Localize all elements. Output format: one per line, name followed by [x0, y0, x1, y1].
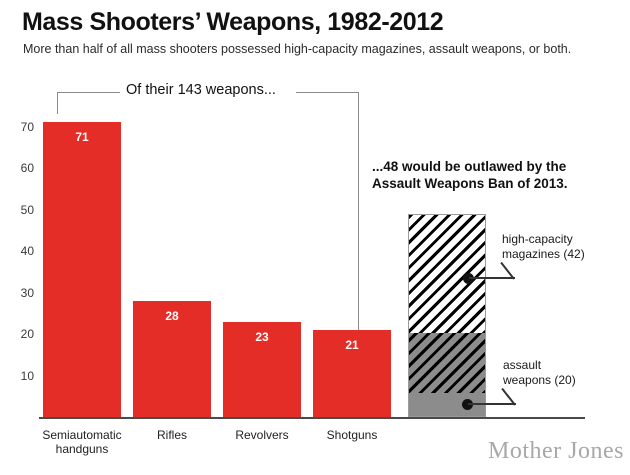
x-label-revolvers: Revolvers	[223, 428, 301, 442]
callout-assault-line1: assault	[503, 358, 623, 373]
outlawed-note-line2: Assault Weapons Ban of 2013.	[372, 175, 622, 192]
callout-leader-assault-h	[468, 403, 516, 405]
bracket-left-tick	[57, 92, 58, 114]
x-label-shotguns: Shotguns	[313, 428, 391, 442]
stack-segment-assault-weapons-solid[interactable]	[408, 393, 486, 417]
callout-leader-magazines-h	[469, 277, 515, 279]
y-tick-40: 40	[8, 244, 34, 258]
bar-value-revolvers: 23	[223, 330, 301, 344]
bar-rifles[interactable]: 28	[133, 301, 211, 417]
bar-value-rifles: 28	[133, 309, 211, 323]
mother-jones-logo: Mother Jones	[488, 438, 624, 465]
outlawed-note-line1: ...48 would be outlawed by the	[372, 158, 622, 175]
outlawed-note: ...48 would be outlawed by the Assault W…	[372, 158, 622, 192]
x-axis-baseline	[39, 417, 585, 419]
x-label-line1: Semiautomatic	[33, 428, 131, 442]
callout-assault-line2: weapons (20)	[503, 373, 623, 388]
callout-high-capacity-magazines: high-capacity magazines (42)	[502, 232, 626, 261]
chart-subtitle: More than half of all mass shooters poss…	[23, 42, 571, 56]
bracket-label: Of their 143 weapons...	[126, 82, 276, 98]
chart-title: Mass Shooters’ Weapons, 1982-2012	[22, 8, 443, 37]
x-label-rifles: Rifles	[133, 428, 211, 442]
y-axis: 70 60 50 40 30 20 10	[8, 0, 34, 475]
callout-magazines-line2: magazines (42)	[502, 247, 626, 262]
y-tick-60: 60	[8, 161, 34, 175]
chart-container: Mass Shooters’ Weapons, 1982-2012 More t…	[0, 0, 630, 475]
y-tick-70: 70	[8, 120, 34, 134]
bar-shotguns[interactable]: 21	[313, 330, 391, 417]
bracket-left-arm	[57, 92, 120, 93]
bar-value-semiautomatic-handguns: 71	[43, 130, 121, 144]
callout-assault-weapons: assault weapons (20)	[503, 358, 623, 387]
bracket-right-arm	[296, 92, 358, 93]
y-tick-10: 10	[8, 369, 34, 383]
stack-segment-assault-weapons-overlap[interactable]	[408, 333, 486, 393]
y-tick-50: 50	[8, 203, 34, 217]
y-tick-30: 30	[8, 286, 34, 300]
x-label-semiautomatic-handguns: Semiautomatic handguns	[33, 428, 131, 456]
bar-revolvers[interactable]: 23	[223, 322, 301, 417]
x-label-line2: handguns	[33, 442, 131, 456]
callout-magazines-line1: high-capacity	[502, 232, 626, 247]
stack-segment-high-capacity-magazines[interactable]	[408, 214, 486, 333]
bar-semiautomatic-handguns[interactable]: 71	[43, 122, 121, 417]
y-tick-20: 20	[8, 327, 34, 341]
bar-value-shotguns: 21	[313, 338, 391, 352]
